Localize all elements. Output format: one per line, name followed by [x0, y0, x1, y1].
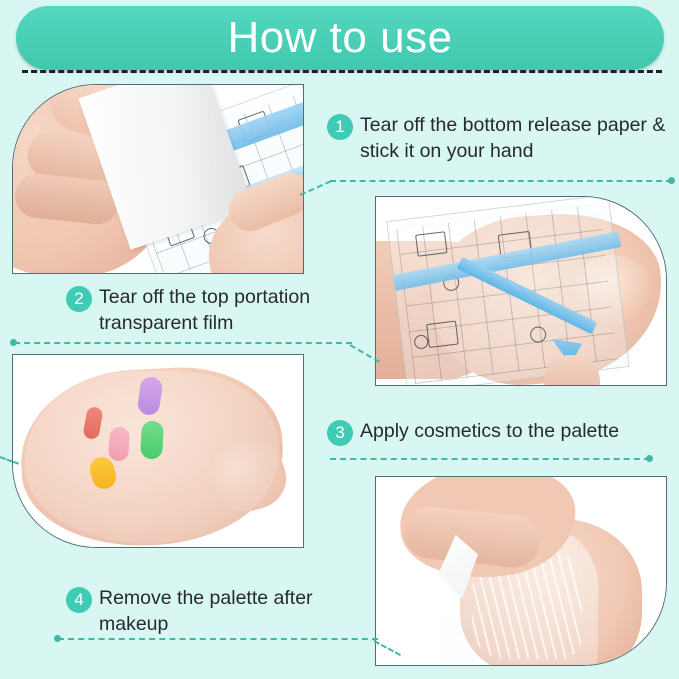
photo-image-4 — [376, 477, 666, 665]
photo-panel-remove-film — [375, 476, 667, 666]
step-4-text: Remove the palette after makeup — [99, 585, 376, 637]
cosmetic-swatch-green — [140, 420, 164, 459]
step-4: 4 Remove the palette after makeup — [66, 585, 376, 637]
step-4-connector-dot — [54, 635, 61, 642]
step-2-number: 2 — [66, 286, 92, 312]
header-dashed-divider — [22, 70, 662, 73]
photo-panel-peel-release-paper — [12, 84, 304, 274]
step-1-connector-line — [330, 180, 672, 182]
step-1: 1 Tear off the bottom release paper & st… — [327, 112, 672, 164]
step-3-text: Apply cosmetics to the palette — [360, 418, 619, 444]
film-print-glyph — [415, 231, 447, 256]
photo-panel-film-on-hand — [375, 196, 667, 386]
step-1-text: Tear off the bottom release paper & stic… — [360, 112, 672, 164]
step-2-connector-line — [14, 342, 352, 344]
step-1-number: 1 — [327, 114, 353, 140]
step-3: 3 Apply cosmetics to the palette — [327, 418, 672, 446]
photo-image-2 — [376, 197, 666, 385]
step-4-connector-line — [58, 638, 378, 640]
step-1-connector-dot — [668, 177, 675, 184]
infographic-page: How to use — [0, 0, 679, 679]
cosmetic-swatch-pink — [108, 426, 130, 461]
photo-panel-cosmetic-swatches — [12, 354, 304, 548]
step-3-number: 3 — [327, 420, 353, 446]
step-2: 2 Tear off the top portation transparent… — [66, 284, 376, 336]
photo-image-1 — [13, 85, 303, 273]
film-print-glyph — [426, 321, 459, 348]
step-2-connector-dot — [10, 339, 17, 346]
step-4-number: 4 — [66, 587, 92, 613]
page-title: How to use — [16, 15, 664, 61]
step-2-text: Tear off the top portation transparent f… — [99, 284, 376, 336]
step-3-connector-dot — [646, 455, 653, 462]
photo-image-3 — [13, 355, 303, 547]
header-banner: How to use — [16, 6, 664, 70]
step-1-connector-diagonal — [300, 180, 332, 196]
step-3-connector-line — [330, 458, 650, 460]
